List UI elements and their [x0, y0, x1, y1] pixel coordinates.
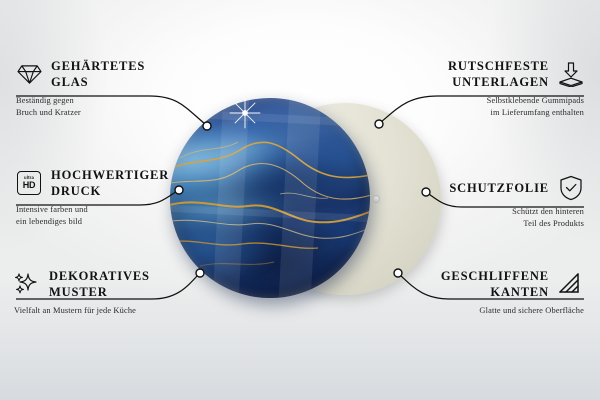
- beveled-edge-icon: [558, 271, 584, 297]
- shield-check-icon: [558, 175, 584, 201]
- feature-title: RUTSCHFESTE UNTERLAGEN: [448, 58, 549, 90]
- feature-gehaertetes-glas: GEHÄRTETES GLAS Beständig gegen Bruch un…: [16, 58, 186, 119]
- feature-title: DEKORATIVES MUSTER: [49, 268, 150, 300]
- diamond-icon: [16, 61, 42, 87]
- feature-subtitle: Schützt den hinteren Teil des Produkts: [394, 206, 584, 230]
- feature-subtitle: Intensive farben und ein lebendiges bild: [16, 204, 196, 228]
- feature-title: HOCHWERTIGER DRUCK: [51, 167, 169, 199]
- infographic-canvas: GEHÄRTETES GLAS Beständig gegen Bruch un…: [0, 0, 600, 400]
- feature-title: GEHÄRTETES GLAS: [51, 58, 145, 90]
- press-down-pad-icon: [558, 61, 584, 87]
- feature-title: GESCHLIFFENE KANTEN: [441, 268, 549, 300]
- feature-subtitle: Vielfalt an Mustern für jede Küche: [14, 305, 199, 317]
- sparkles-icon: [14, 271, 40, 297]
- ultra-hd-icon: ultra HD: [16, 170, 42, 196]
- feature-schutzfolie: SCHUTZFOLIE Schützt den hinteren Teil de…: [394, 175, 584, 230]
- feature-subtitle: Beständig gegen Bruch und Kratzer: [16, 95, 186, 119]
- feature-hochwertiger-druck: ultra HD HOCHWERTIGER DRUCK Intensive fa…: [16, 167, 196, 228]
- feature-title: SCHUTZFOLIE: [449, 180, 549, 196]
- feature-subtitle: Glatte und sichere Oberfläche: [384, 305, 584, 317]
- feature-rutschfeste-unterlagen: RUTSCHFESTE UNTERLAGEN Selbstklebende Gu…: [384, 58, 584, 119]
- feature-subtitle: Selbstklebende Gummipads im Lieferumfang…: [384, 95, 584, 119]
- feature-geschliffene-kanten: GESCHLIFFENE KANTEN Glatte und sichere O…: [384, 268, 584, 317]
- feature-dekoratives-muster: DEKORATIVES MUSTER Vielfalt an Mustern f…: [14, 268, 199, 317]
